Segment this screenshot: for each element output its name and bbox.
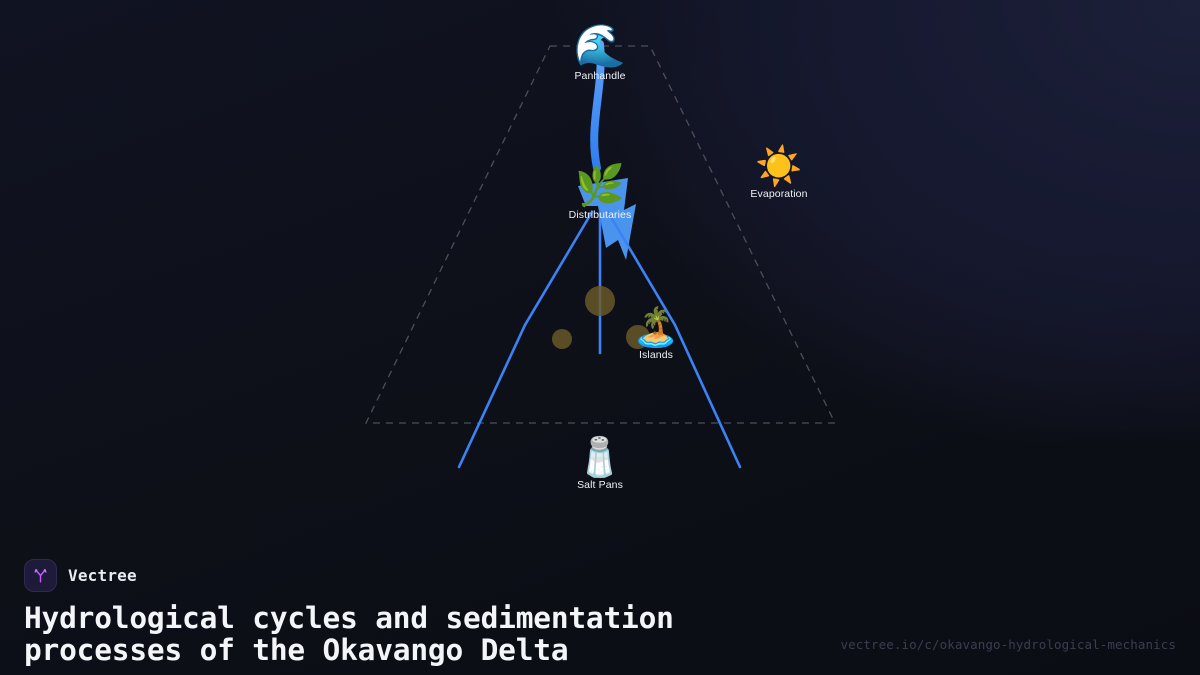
node-panhandle[interactable]: 🌊 Panhandle (515, 25, 685, 82)
sediment-deposit-small (552, 329, 572, 349)
node-distributaries[interactable]: 🌿 Distributaries (515, 166, 685, 221)
node-label-evaporation: Evaporation (694, 188, 864, 200)
brand-block: Vectree (24, 559, 137, 592)
ocean-wave-icon: 🌊 (515, 25, 685, 67)
slide-canvas: 🌊 Panhandle 🌿 Distributaries ☀️ Evaporat… (0, 0, 1200, 675)
page-title: Hydrological cycles and sedimentation pr… (24, 602, 724, 666)
vectree-v-tree-icon (24, 559, 57, 592)
node-label-islands: Islands (571, 349, 741, 361)
deck-url[interactable]: vectree.io/c/okavango-hydrological-mecha… (840, 637, 1176, 652)
node-label-panhandle: Panhandle (515, 70, 685, 82)
slide-footer: Vectree Hydrological cycles and sediment… (0, 510, 1200, 675)
sun-icon: ☀️ (694, 147, 864, 185)
node-label-salt-pans: Salt Pans (515, 479, 685, 491)
node-label-distributaries: Distributaries (515, 209, 685, 221)
brand-name: Vectree (68, 566, 137, 585)
node-salt-pans[interactable]: 🧂 Salt Pans (515, 438, 685, 491)
desert-island-icon: 🏝️ (571, 308, 741, 346)
node-evaporation[interactable]: ☀️ Evaporation (694, 147, 864, 200)
herb-plant-icon: 🌿 (515, 166, 685, 206)
salt-shaker-icon: 🧂 (515, 438, 685, 476)
node-islands[interactable]: 🏝️ Islands (571, 308, 741, 361)
